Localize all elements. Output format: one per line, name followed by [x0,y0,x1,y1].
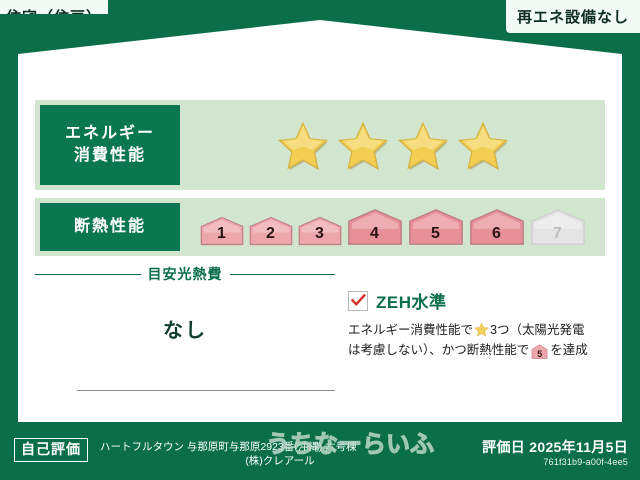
energy-label-line1: エネルギー [65,123,155,145]
insulation-performance-label: 断熱性能 [40,203,180,251]
insulation-grade-badge: 5 [407,208,465,246]
heading-rule-right [230,274,336,275]
zeh-desc-part2: 3つ（太陽光発電 [490,323,584,337]
insulation-grade-number: 3 [297,225,343,243]
utility-cost-underline [77,390,335,391]
self-evaluation-badge: 自己評価 [14,438,88,462]
insulation-grade-number: 7 [529,225,587,243]
zeh-desc-part1: エネルギー消費性能で [348,323,473,337]
evaluation-date-value: 2025年11月5日 [529,439,628,455]
utility-cost-heading: 目安光熱費 [35,264,335,284]
zeh-block: ZEH水準 エネルギー消費性能で3つ（太陽光発電は考慮しない）、かつ断熱性能で5… [348,288,610,365]
insulation-grade-scale: 1234567 [199,208,587,246]
insulation-grade-number: 4 [346,225,404,243]
insulation-grade-badge-inline-number: 5 [531,344,548,364]
star-rating [277,120,509,170]
utility-cost-block: 目安光熱費 なし [35,264,335,343]
evaluation-info: 評価日 2025年11月5日 761f31b9-a00f-4ee5 [482,438,628,469]
insulation-grade-badge: 7 [529,208,587,246]
zeh-title-row: ZEH水準 [348,288,610,313]
insulation-grade-badge-inline: 5 [531,344,548,365]
star-icon-inline [474,322,489,337]
zeh-desc-part3: は考慮しない）、かつ断熱性能で [348,343,529,357]
energy-label-line2: 消費性能 [74,145,146,167]
star-icon [337,120,389,170]
energy-performance-label: エネルギー 消費性能 [40,105,180,185]
insulation-grade-number: 6 [468,225,526,243]
insulation-grade-badge: 1 [199,216,245,246]
check-icon [351,294,366,307]
insulation-performance-row: 断熱性能 1234567 [35,198,605,256]
header: 建築物省エネ法に基づく 省エネ性能ラベル [0,36,640,87]
energy-performance-row: エネルギー 消費性能 [35,100,605,190]
property-name: ハートフルタウン 与那原町与那原2923番(沖縄) 六号棟 [100,440,460,454]
header-subtitle: 建築物省エネ法に基づく [0,36,640,54]
insulation-grade-badge: 4 [346,208,404,246]
insulation-grade-number: 1 [199,225,245,243]
energy-performance-value [180,120,605,170]
insulation-grade-badge: 3 [297,216,343,246]
energy-performance-label: 住宅（住戸） 再エネ設備なし 建築物省エネ法に基づく 省エネ性能ラベル エネルギ… [0,0,640,480]
insulation-grade-number: 5 [407,225,465,243]
zeh-description: エネルギー消費性能で3つ（太陽光発電は考慮しない）、かつ断熱性能で5を達成 [348,320,610,365]
page-title: 省エネ性能ラベル [0,55,640,87]
property-info: ハートフルタウン 与那原町与那原2923番(沖縄) 六号棟 (株)クレアール [100,440,460,468]
property-company: (株)クレアール [100,454,460,468]
star-icon [397,120,449,170]
evaluation-id: 761f31b9-a00f-4ee5 [482,456,628,469]
utility-cost-value: なし [35,314,335,343]
insulation-grade-badge: 2 [248,216,294,246]
footer-bar: 自己評価 ハートフルタウン 与那原町与那原2923番(沖縄) 六号棟 (株)クレ… [0,428,640,480]
evaluation-date: 評価日 2025年11月5日 [482,438,628,456]
utility-cost-heading-text: 目安光熱費 [148,264,223,284]
zeh-desc-part4: を達成 [550,343,588,357]
zeh-checkbox[interactable] [348,291,368,311]
heading-rule-left [35,274,141,275]
zeh-title: ZEH水準 [376,288,447,313]
star-icon [277,120,329,170]
insulation-label-text: 断熱性能 [74,216,146,238]
insulation-grade-badge: 6 [468,208,526,246]
label-card: エネルギー 消費性能 断熱性能 1234567 目安光熱費 なし [18,92,622,422]
star-icon [457,120,509,170]
insulation-performance-value: 1234567 [180,208,605,246]
evaluation-date-label: 評価日 [482,439,525,455]
insulation-grade-number: 2 [248,225,294,243]
